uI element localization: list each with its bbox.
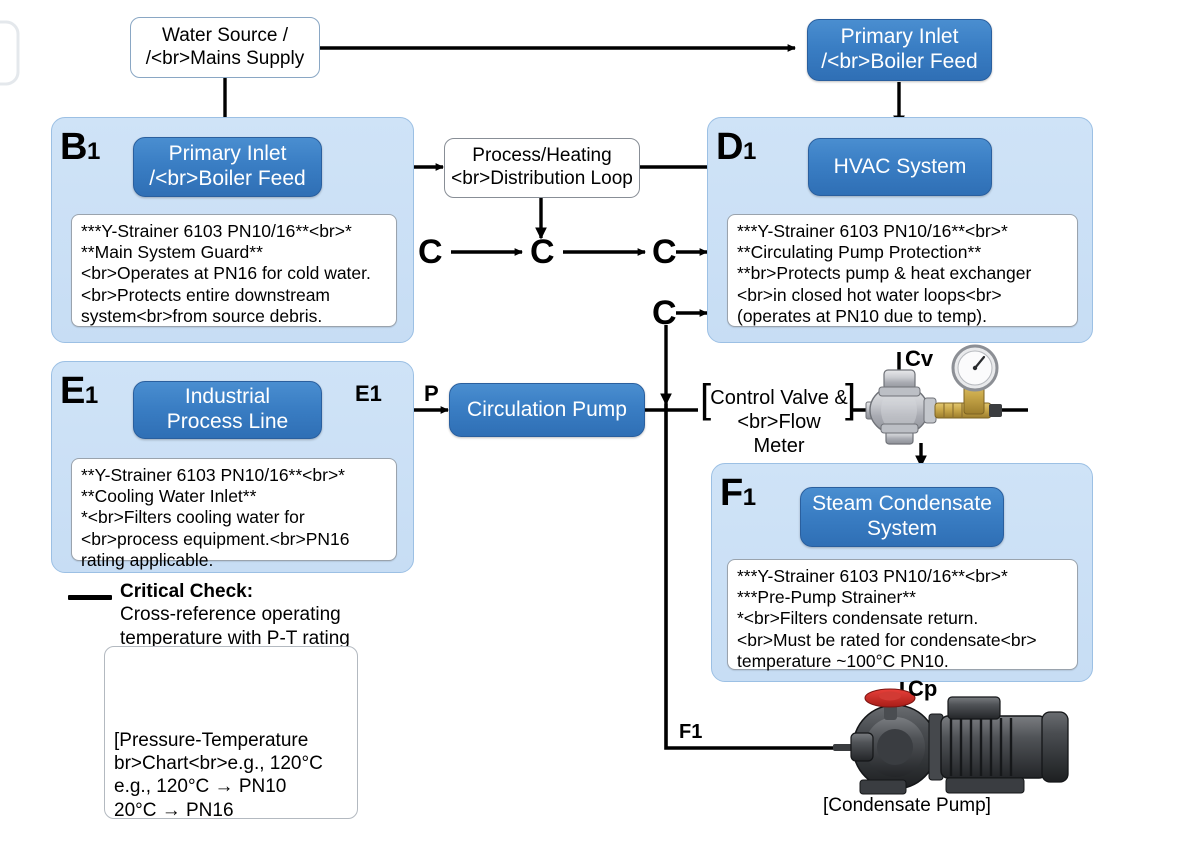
node-circulation-pump[interactable]: Circulation Pump bbox=[449, 383, 645, 437]
cluster-label-d1: D1 bbox=[716, 128, 756, 166]
control-valve-caption: Control Valve & <br>Flow Meter bbox=[709, 386, 849, 458]
control-valve-caption-close-bracket: ] bbox=[845, 379, 856, 419]
cluster-b1-sub: 1 bbox=[87, 138, 100, 165]
node-primary-inlet-top[interactable]: Primary Inlet /<br>Boiler Feed bbox=[807, 19, 992, 81]
cluster-label-f1: F1 bbox=[720, 474, 756, 512]
note-d1-circulating-pump-protection: ***Y-Strainer 6103 PN10/16**<br>* **Circ… bbox=[727, 214, 1078, 327]
node-process-heating-distribution-loop[interactable]: Process/Heating <br>Distribution Loop bbox=[444, 138, 640, 198]
edge-label-f1-return: F1 bbox=[679, 722, 702, 742]
pt-chart-text: [Pressure-Temperature br>Chart<br>e.g., … bbox=[114, 729, 354, 822]
cluster-f1-letter: F bbox=[720, 472, 743, 514]
note-b1-main-system-guard: ***Y-Strainer 6103 PN10/16**<br>* **Main… bbox=[71, 214, 397, 327]
edge-label-c1: C bbox=[418, 235, 443, 269]
cluster-e1-sub: 1 bbox=[85, 382, 98, 409]
edge-label-c3: C bbox=[652, 235, 677, 269]
edge-label-cp: Cp bbox=[908, 678, 937, 700]
node-steam-condensate-system[interactable]: Steam Condensate System bbox=[800, 487, 1004, 547]
edge-label-c4: C bbox=[652, 296, 677, 330]
control-valve-icon-graphic bbox=[866, 346, 1002, 444]
node-hvac-system[interactable]: HVAC System bbox=[808, 138, 992, 196]
note-f1-pre-pump-strainer: ***Y-Strainer 6103 PN10/16**<br>* ***Pre… bbox=[727, 559, 1078, 670]
node-water-source[interactable]: Water Source / /<br>Mains Supply bbox=[130, 17, 320, 78]
legend-dash-icon bbox=[68, 595, 112, 600]
cluster-b1-letter: B bbox=[60, 126, 87, 168]
node-primary-inlet-b1[interactable]: Primary Inlet /<br>Boiler Feed bbox=[133, 137, 322, 197]
condensate-pump-caption: [Condensate Pump] bbox=[797, 795, 1017, 818]
legend-title: Critical Check: bbox=[120, 580, 253, 604]
cluster-label-b1: B1 bbox=[60, 128, 100, 166]
cluster-label-e1: E1 bbox=[60, 372, 98, 410]
cluster-d1-sub: 1 bbox=[743, 138, 756, 165]
node-industrial-process-line[interactable]: Industrial Process Line bbox=[133, 381, 322, 439]
edge-label-cv: Cv bbox=[905, 348, 933, 370]
cluster-f1-sub: 1 bbox=[743, 484, 756, 511]
diagram-canvas: B1 D1 E1 F1 Water Source / /<br>Mains Su… bbox=[0, 0, 1198, 858]
cluster-e1-letter: E bbox=[60, 370, 85, 412]
edge-label-c2: C bbox=[530, 235, 555, 269]
condensate-pump-icon-graphic bbox=[833, 689, 1068, 794]
cluster-d1-letter: D bbox=[716, 126, 743, 168]
legend-body: Cross-reference operating temperature wi… bbox=[120, 603, 420, 651]
note-e1-cooling-water-inlet: **Y-Strainer 6103 PN10/16**<br>* **Cooli… bbox=[71, 458, 397, 561]
edge-label-e1: E1 bbox=[355, 383, 382, 405]
edge-label-p: P bbox=[424, 383, 439, 405]
